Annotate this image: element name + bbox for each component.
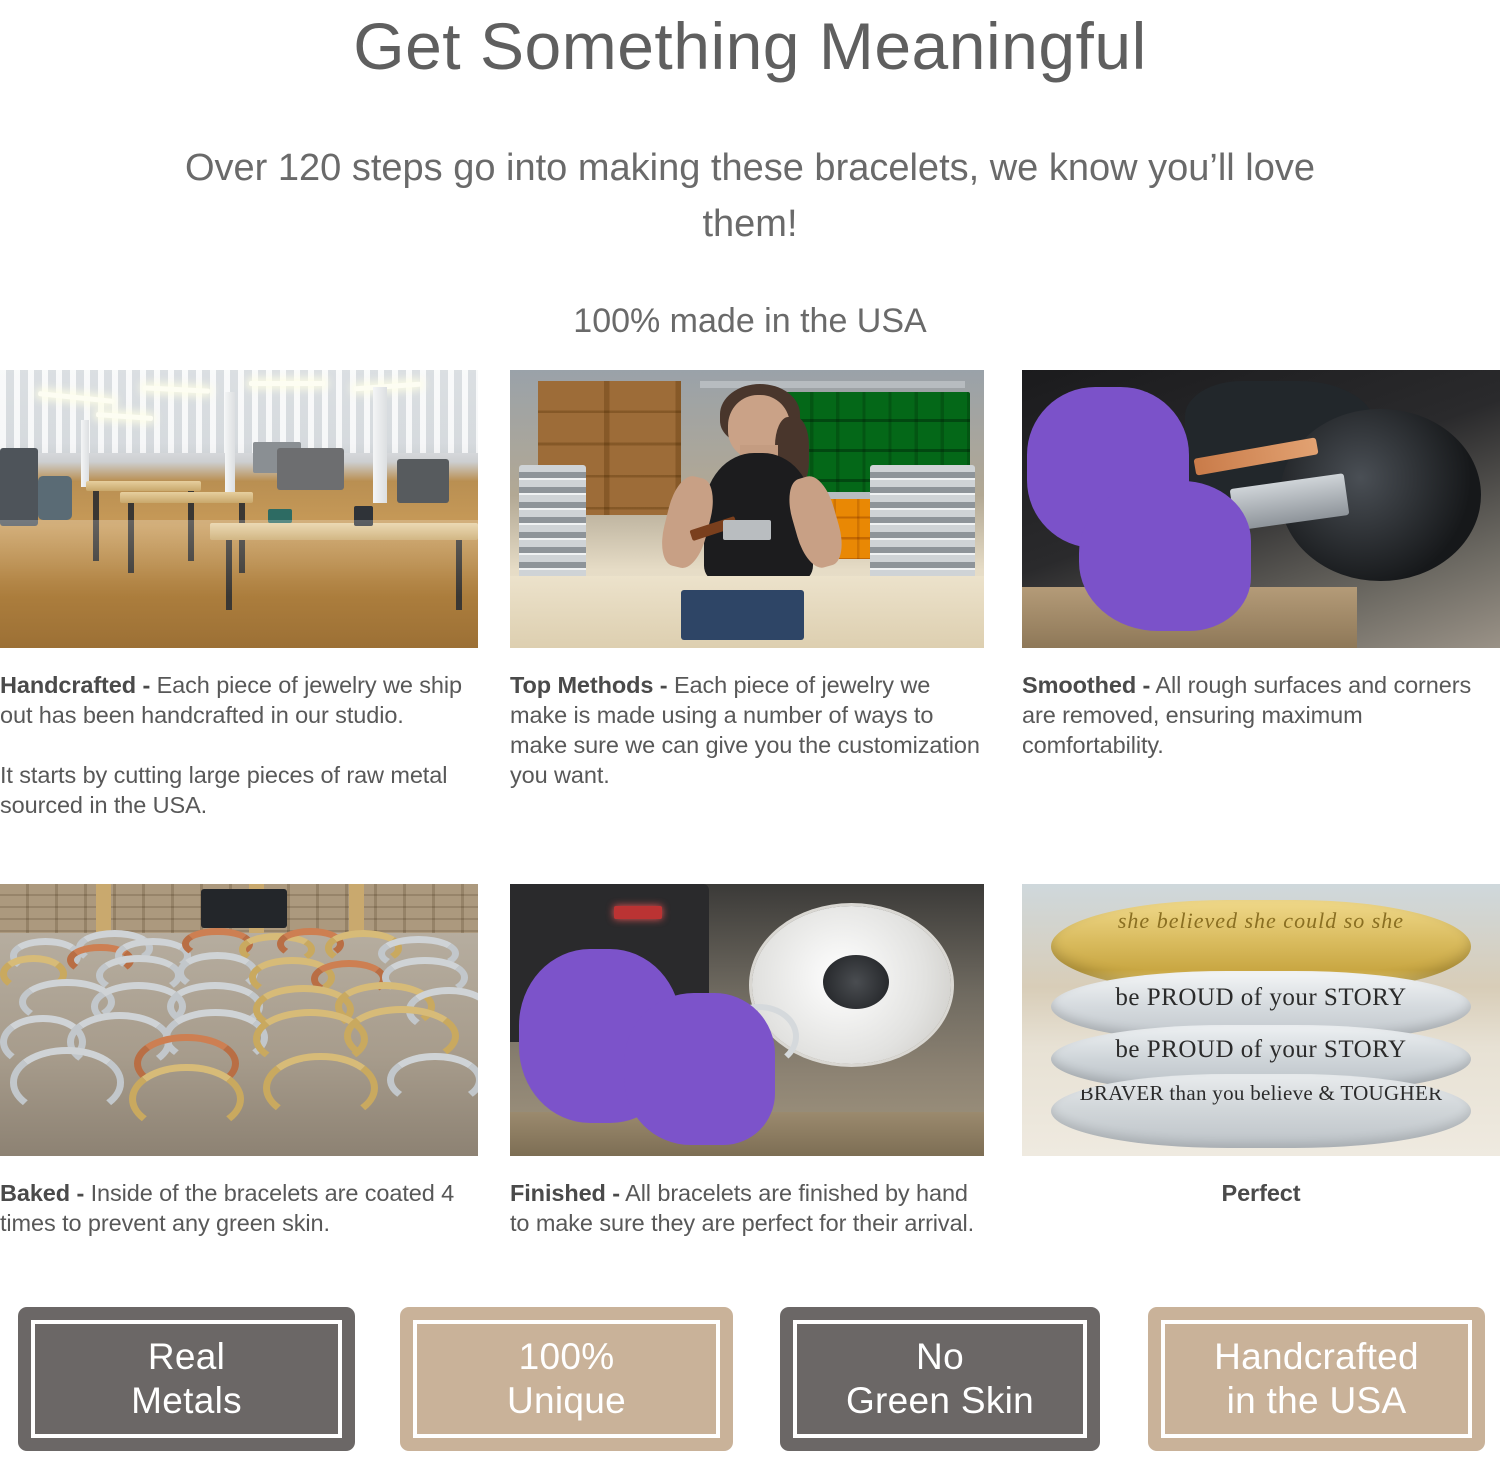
page-subtitle: Over 120 steps go into making these brac…: [150, 140, 1350, 252]
feature-heading: Smoothed -: [1022, 672, 1150, 698]
badge-inner-border: No Green Skin: [793, 1320, 1087, 1438]
badge-no-green-skin: No Green Skin: [780, 1307, 1100, 1451]
badge-inner-border: Real Metals: [31, 1320, 342, 1438]
feature-heading: Top Methods -: [510, 672, 668, 698]
badge-inner-border: 100% Unique: [413, 1320, 720, 1438]
bracelet-silver-3: BRAVER than you believe & TOUGHER: [1051, 1074, 1472, 1147]
feature-card-handcrafted-text: Handcrafted - Each piece of jewelry we s…: [0, 670, 478, 820]
badge-100-percent-unique: 100% Unique: [400, 1307, 733, 1451]
feature-card-top-methods-text: Top Methods - Each piece of jewelry we m…: [510, 670, 984, 790]
feature-card-baked: Baked - Inside of the bracelets are coat…: [0, 884, 478, 1238]
feature-heading: Handcrafted -: [0, 672, 150, 698]
finished-bracelets-photo: she believed she could so she be PROUD o…: [1022, 884, 1500, 1156]
badge-label: Handcrafted in the USA: [1214, 1335, 1419, 1423]
badge-handcrafted-in-usa: Handcrafted in the USA: [1148, 1307, 1485, 1451]
badge-label: No Green Skin: [846, 1335, 1034, 1423]
badge-label: Real Metals: [131, 1335, 242, 1423]
feature-body-2: It starts by cutting large pieces of raw…: [0, 760, 478, 820]
feature-card-perfect-text: Perfect: [1022, 1178, 1500, 1208]
feature-card-smoothed-text: Smoothed - All rough surfaces and corner…: [1022, 670, 1500, 760]
feature-card-baked-text: Baked - Inside of the bracelets are coat…: [0, 1178, 478, 1238]
badge-inner-border: Handcrafted in the USA: [1161, 1320, 1472, 1438]
feature-card-top-methods: Top Methods - Each piece of jewelry we m…: [510, 370, 984, 790]
studio-photo: [0, 370, 478, 648]
bracelet-engraving-4: BRAVER than you believe & TOUGHER: [1051, 1081, 1472, 1148]
page-title: Get Something Meaningful: [0, 6, 1500, 86]
feature-card-perfect: she believed she could so she be PROUD o…: [1022, 884, 1500, 1208]
promo-page: Get Something Meaningful Over 120 steps …: [0, 0, 1500, 1462]
bracelet-blanks-photo: [0, 884, 478, 1156]
feature-card-finished-text: Finished - All bracelets are finished by…: [510, 1178, 984, 1238]
feature-heading: Finished -: [510, 1180, 620, 1206]
grinding-photo: [1022, 370, 1500, 648]
feature-heading: Baked -: [0, 1180, 84, 1206]
hand-stamping-photo: [510, 370, 984, 648]
feature-card-handcrafted: Handcrafted - Each piece of jewelry we s…: [0, 370, 478, 820]
made-in-usa-line: 100% made in the USA: [0, 298, 1500, 344]
feature-card-smoothed: Smoothed - All rough surfaces and corner…: [1022, 370, 1500, 760]
badge-label: 100% Unique: [507, 1335, 626, 1423]
polishing-photo: [510, 884, 984, 1156]
badge-real-metals: Real Metals: [18, 1307, 355, 1451]
feature-heading: Perfect: [1222, 1180, 1301, 1206]
feature-card-finished: Finished - All bracelets are finished by…: [510, 884, 984, 1238]
